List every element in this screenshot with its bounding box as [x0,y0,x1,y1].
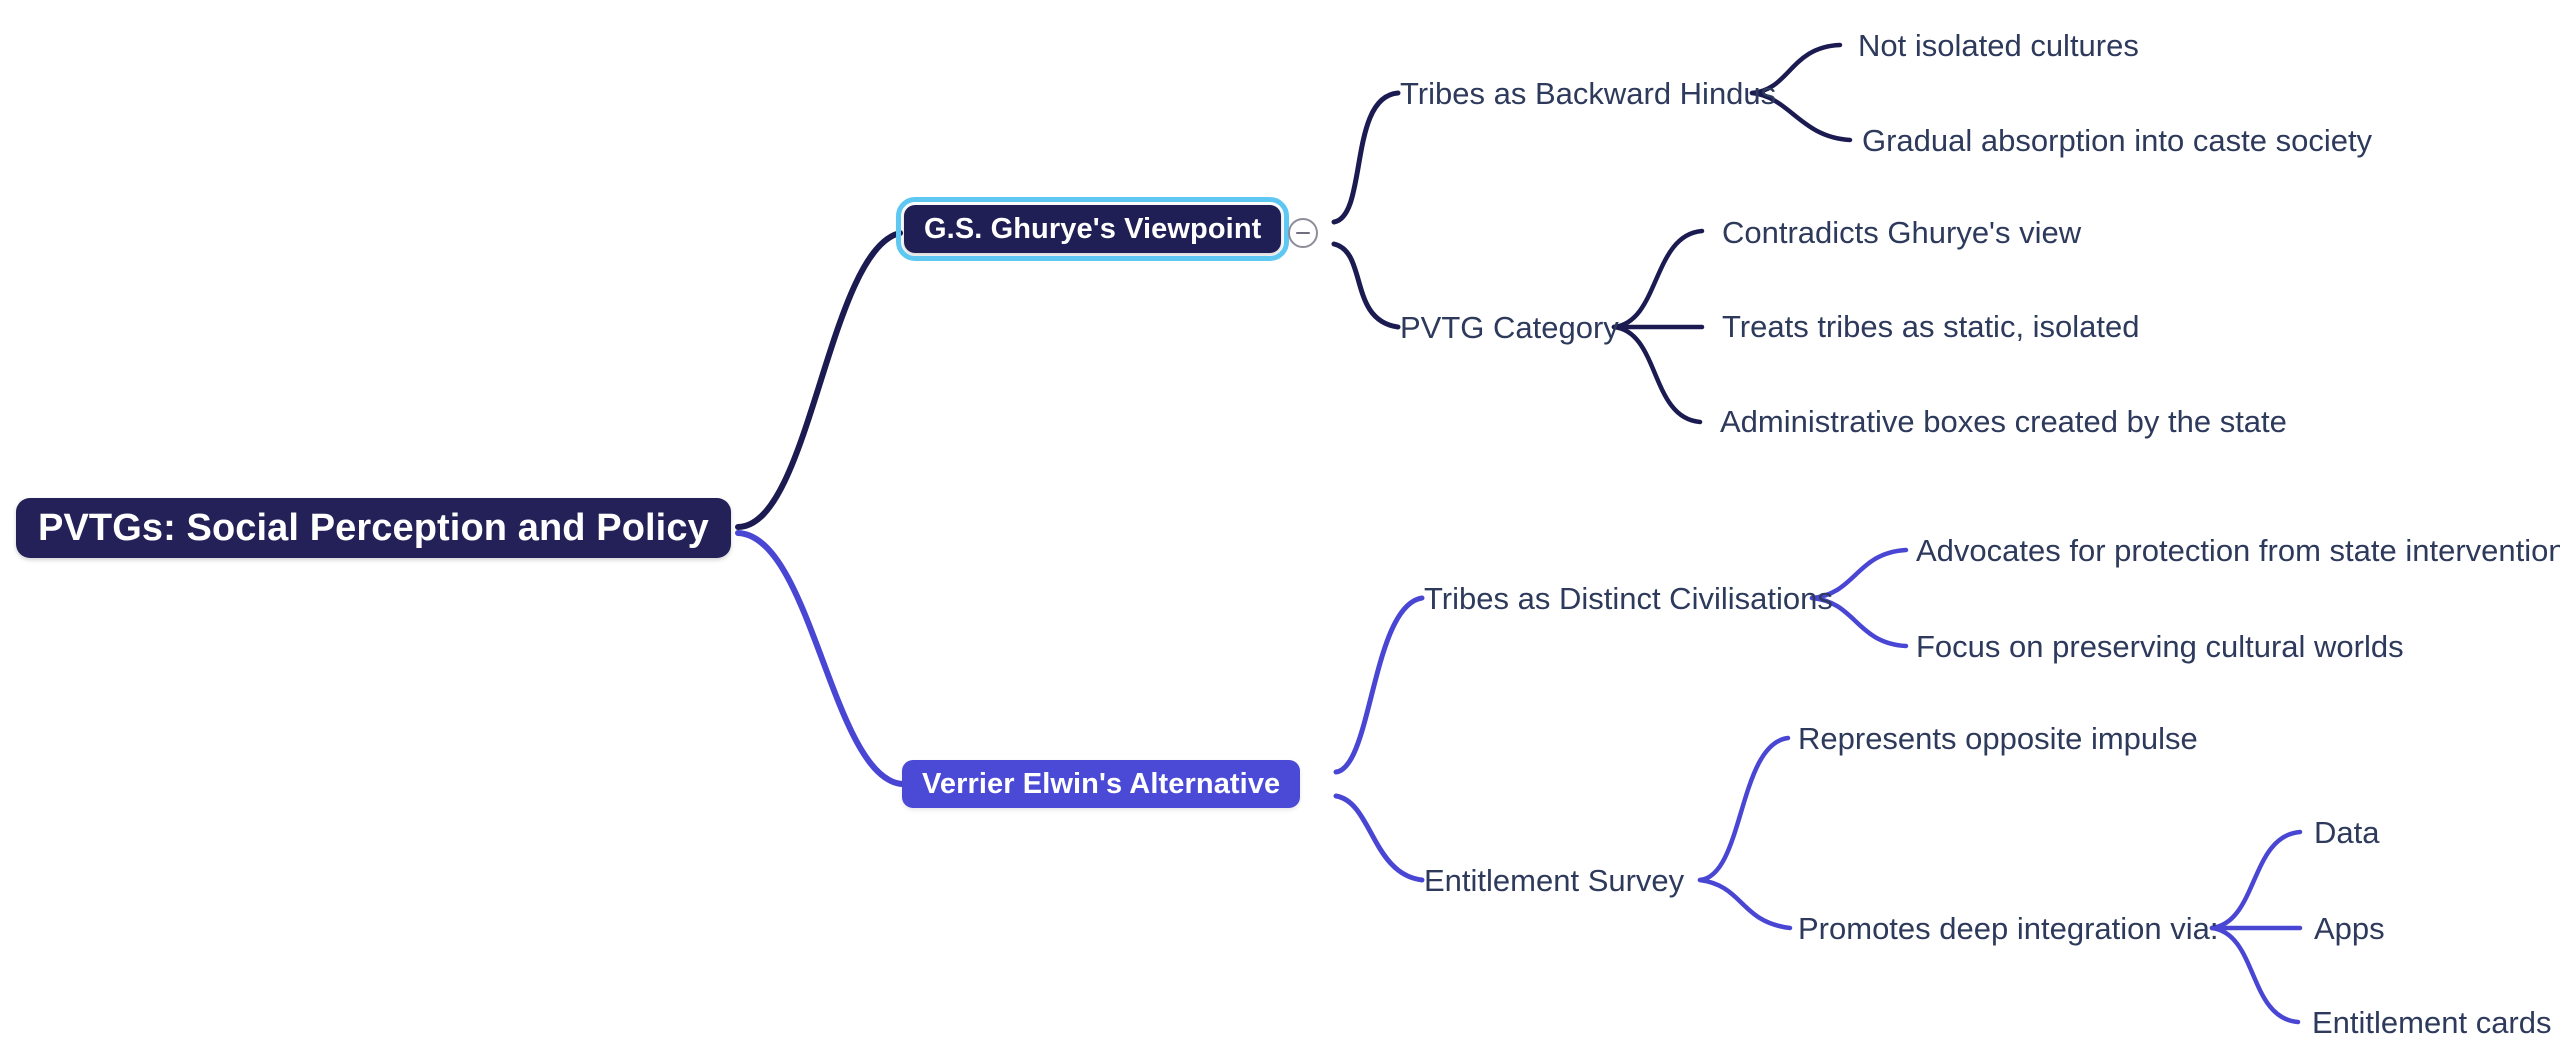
edge-pvtg-to-contradicts [1614,231,1702,327]
leaf-entitlement-survey[interactable]: Entitlement Survey [1424,865,1684,896]
leaf-label: Advocates for protection from state inte… [1916,533,2560,568]
leaf-label: Administrative boxes created by the stat… [1720,404,2287,439]
leaf-label: Promotes deep integration via: [1798,911,2218,946]
leaf-label: Apps [2314,911,2385,946]
leaf-label: Represents opposite impulse [1798,721,2198,756]
leaf-represents-opposite-impulse[interactable]: Represents opposite impulse [1798,723,2198,754]
branch-node-elwin-label: Verrier Elwin's Alternative [922,768,1280,801]
leaf-label: Data [2314,815,2379,850]
leaf-label: Entitlement cards [2312,1005,2552,1040]
leaf-apps[interactable]: Apps [2314,913,2385,944]
leaf-not-isolated-cultures[interactable]: Not isolated cultures [1858,30,2139,61]
leaf-label: Treats tribes as static, isolated [1722,309,2140,344]
edge-elwin-to-distinct-civilisations [1336,598,1422,772]
branch-node-ghurye[interactable]: G.S. Ghurye's Viewpoint [904,205,1281,253]
mindmap-canvas: PVTGs: Social Perception and Policy G.S.… [0,0,2560,1042]
minus-icon [1296,232,1310,235]
branch-node-ghurye-label: G.S. Ghurye's Viewpoint [924,213,1261,246]
branch-node-elwin[interactable]: Verrier Elwin's Alternative [902,760,1300,808]
leaf-tribes-as-backward-hindus[interactable]: Tribes as Backward Hindus [1400,78,1776,109]
edge-survey-to-opposite-impulse [1700,738,1788,880]
leaf-gradual-absorption[interactable]: Gradual absorption into caste society [1862,125,2372,156]
edge-promotes-to-entitlement-cards [2212,928,2298,1022]
leaf-data[interactable]: Data [2314,817,2379,848]
edge-ghurye-to-pvtg-category [1334,244,1398,327]
edge-root-to-elwin [738,533,902,784]
leaf-label: Not isolated cultures [1858,28,2139,63]
edge-root-to-ghurye [738,233,900,527]
leaf-label: Contradicts Ghurye's view [1722,215,2081,250]
edge-promotes-to-data [2212,832,2300,928]
leaf-label: Tribes as Backward Hindus [1400,76,1776,111]
leaf-focus-preserving-cultural-worlds[interactable]: Focus on preserving cultural worlds [1916,631,2404,662]
edge-pvtg-to-admin-boxes [1614,327,1700,422]
leaf-treats-tribes-static-isolated[interactable]: Treats tribes as static, isolated [1722,311,2140,342]
leaf-tribes-as-distinct-civilisations[interactable]: Tribes as Distinct Civilisations [1424,583,1833,614]
leaf-label: Focus on preserving cultural worlds [1916,629,2404,664]
root-node[interactable]: PVTGs: Social Perception and Policy [16,498,731,558]
root-node-label: PVTGs: Social Perception and Policy [38,507,709,550]
leaf-label: PVTG Category [1400,310,1619,345]
leaf-label: Gradual absorption into caste society [1862,123,2372,158]
edge-elwin-to-entitlement-survey [1336,796,1422,880]
leaf-contradicts-ghuryes-view[interactable]: Contradicts Ghurye's view [1722,217,2081,248]
leaf-promotes-deep-integration[interactable]: Promotes deep integration via: [1798,913,2218,944]
leaf-administrative-boxes[interactable]: Administrative boxes created by the stat… [1720,406,2287,437]
edge-survey-to-promotes-integration [1700,880,1790,928]
collapse-toggle-ghurye[interactable] [1288,218,1318,248]
leaf-pvtg-category[interactable]: PVTG Category [1400,312,1619,343]
edge-ghurye-to-backward-hindus [1334,93,1398,222]
leaf-entitlement-cards[interactable]: Entitlement cards [2312,1007,2552,1038]
leaf-label: Tribes as Distinct Civilisations [1424,581,1833,616]
leaf-label: Entitlement Survey [1424,863,1684,898]
leaf-advocates-protection[interactable]: Advocates for protection from state inte… [1916,535,2560,566]
